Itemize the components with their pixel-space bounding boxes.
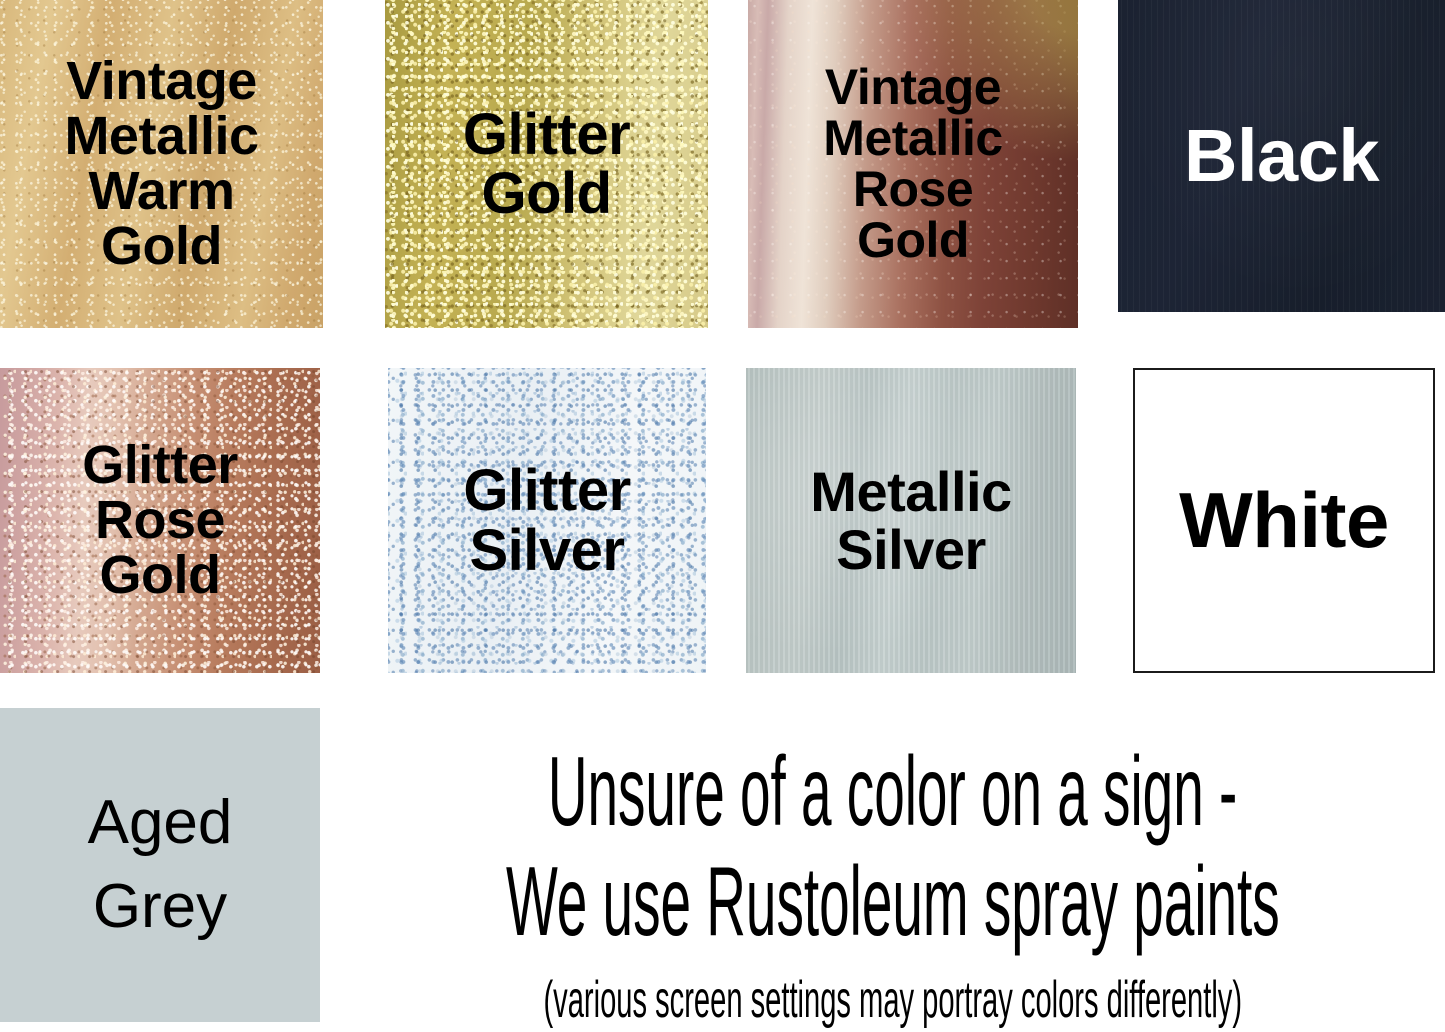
note-line-brand: We use Rustoleum spray paints [506,844,1280,960]
swatch-white[interactable]: White [1133,368,1435,673]
swatch-label: Glitter Rose Gold [82,438,238,603]
swatch-board: Vintage Metallic Warm Gold Glitter Gold … [0,0,1445,1030]
swatch-vintage-metallic-warm-gold[interactable]: Vintage Metallic Warm Gold [0,0,323,328]
note-line-disclaimer: (various screen settings may portray col… [543,969,1242,1031]
swatch-label: Metallic Silver [810,463,1011,577]
swatch-glitter-gold[interactable]: Glitter Gold [385,0,708,328]
swatch-metallic-silver[interactable]: Metallic Silver [746,368,1076,673]
info-note: Unsure of a color on a sign - We use Rus… [340,722,1445,1030]
swatch-vintage-metallic-rose-gold[interactable]: Vintage Metallic Rose Gold [748,0,1078,328]
swatch-glitter-silver[interactable]: Glitter Silver [388,368,706,673]
swatch-aged-grey[interactable]: Aged Grey [0,708,320,1022]
swatch-label: Vintage Metallic Warm Gold [64,54,258,274]
swatch-label: Glitter Silver [463,461,630,579]
swatch-glitter-rose-gold[interactable]: Glitter Rose Gold [0,368,320,673]
swatch-label: White [1179,481,1389,561]
swatch-label: Aged Grey [88,781,233,948]
note-line-question: Unsure of a color on a sign - [548,734,1237,850]
swatch-label: Glitter Gold [463,105,630,223]
swatch-label: Black [1184,118,1379,193]
swatch-label: Vintage Metallic Rose Gold [823,62,1002,266]
swatch-black[interactable]: Black [1118,0,1445,312]
